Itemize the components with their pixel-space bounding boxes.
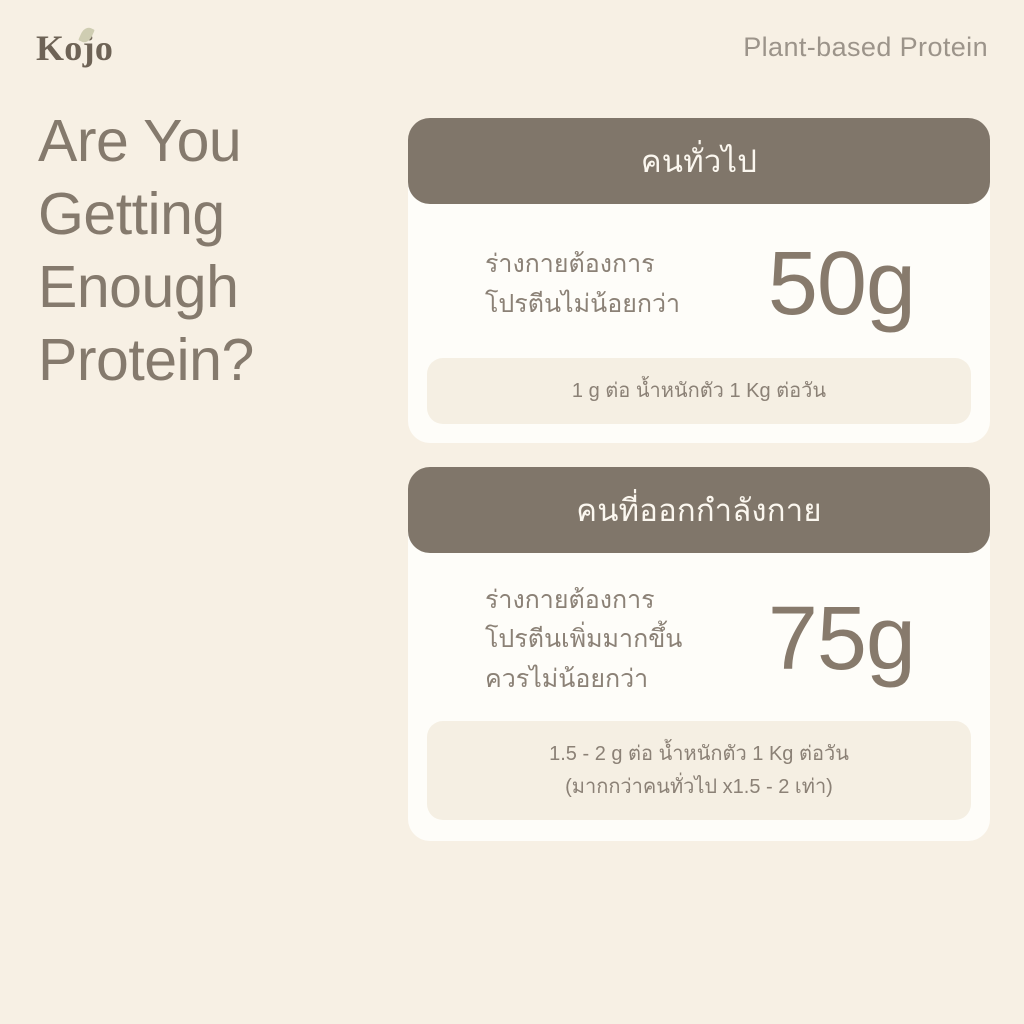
card-desc-line-1: ร่างกายต้องการ	[485, 581, 682, 621]
card-note-general: 1 g ต่อ น้ำหนักตัว 1 Kg ต่อวัน	[427, 358, 971, 424]
card-desc-line-1: ร่างกายต้องการ	[485, 245, 680, 285]
card-header-general: คนทั่วไป	[408, 118, 990, 204]
card-note-line-1: 1.5 - 2 g ต่อ น้ำหนักตัว 1 Kg ต่อวัน	[447, 738, 951, 770]
headline-line-2: Getting	[38, 178, 398, 251]
card-stack: คนทั่วไป ร่างกายต้องการ โปรตีนไม่น้อยกว่…	[408, 118, 990, 841]
card-body-general: ร่างกายต้องการ โปรตีนไม่น้อยกว่า 50g 1 g…	[408, 164, 990, 443]
card-desc-line-3: ควรไม่น้อยกว่า	[485, 660, 682, 700]
card-value-general: 50g	[768, 242, 931, 328]
card-note-line-2: (มากกว่าคนทั่วไป x1.5 - 2 เท่า)	[447, 771, 951, 803]
brand-logo-text: Kojo	[36, 28, 113, 68]
brand-logo: Kojo	[36, 30, 113, 66]
card-main-active: ร่างกายต้องการ โปรตีนเพิ่มมากขึ้น ควรไม่…	[427, 565, 971, 722]
card-body-active: ร่างกายต้องการ โปรตีนเพิ่มมากขึ้น ควรไม่…	[408, 513, 990, 841]
protein-card-general: คนทั่วไป ร่างกายต้องการ โปรตีนไม่น้อยกว่…	[408, 118, 990, 443]
headline-line-4: Protein?	[38, 324, 398, 397]
headline-line-1: Are You	[38, 105, 398, 178]
headline-line-3: Enough	[38, 251, 398, 324]
card-value-active: 75g	[768, 597, 931, 683]
card-header-active: คนที่ออกกำลังกาย	[408, 467, 990, 553]
protein-card-active: คนที่ออกกำลังกาย ร่างกายต้องการ โปรตีนเพ…	[408, 467, 990, 841]
card-description-general: ร่างกายต้องการ โปรตีนไม่น้อยกว่า	[485, 245, 680, 324]
page-title: Are You Getting Enough Protein?	[38, 105, 398, 398]
card-note-line-1: 1 g ต่อ น้ำหนักตัว 1 Kg ต่อวัน	[447, 375, 951, 407]
card-note-active: 1.5 - 2 g ต่อ น้ำหนักตัว 1 Kg ต่อวัน (มา…	[427, 721, 971, 820]
card-desc-line-2: โปรตีนไม่น้อยกว่า	[485, 285, 680, 325]
card-description-active: ร่างกายต้องการ โปรตีนเพิ่มมากขึ้น ควรไม่…	[485, 581, 682, 700]
eyebrow-label: Plant-based Protein	[743, 32, 988, 63]
card-desc-line-2: โปรตีนเพิ่มมากขึ้น	[485, 620, 682, 660]
card-main-general: ร่างกายต้องการ โปรตีนไม่น้อยกว่า 50g	[427, 216, 971, 358]
